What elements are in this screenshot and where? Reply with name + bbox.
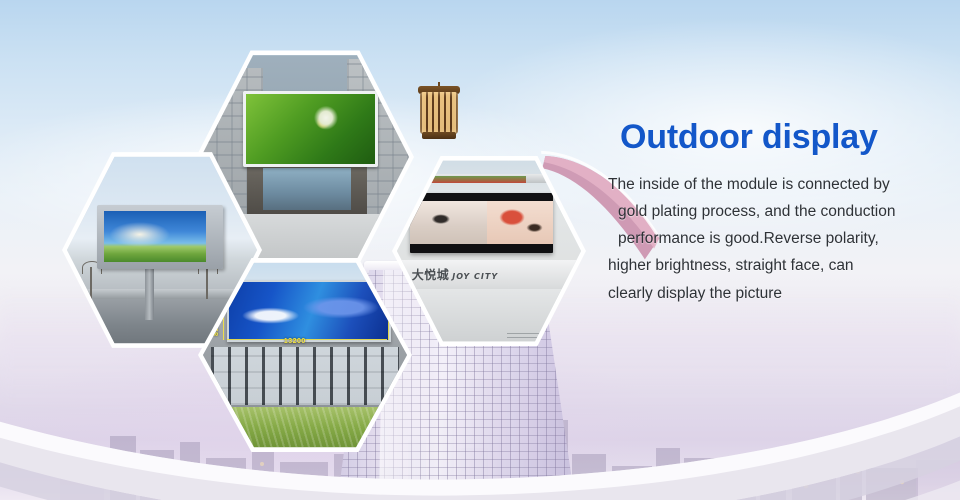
- description-line-1: The inside of the module is connected by: [608, 171, 948, 198]
- billboard-cabinet: [97, 205, 222, 269]
- banner-stage: 大悦城JOY CITY: [0, 0, 960, 500]
- ad-right-lips: [487, 201, 553, 244]
- dimension-label-height-right: 4800: [403, 309, 407, 327]
- hexagon-gallery: 大悦城JOY CITY: [0, 0, 600, 500]
- description-line-2: gold plating process, and the conduction: [608, 198, 948, 225]
- dimension-line-bottom: [227, 339, 386, 340]
- ad-left-model: [410, 201, 487, 244]
- description-line-4: higher brightness, straight face, can: [608, 252, 948, 279]
- photo-joy-city-mall: 大悦城JOY CITY: [397, 157, 581, 345]
- tree-right: [206, 267, 208, 298]
- mall-sign-english: JOY CITY: [452, 272, 498, 281]
- foreground-shrubs: [203, 407, 407, 451]
- description-line-3: performance is good.Reverse polarity,: [608, 225, 948, 252]
- mall-podium: [397, 289, 581, 345]
- led-screen-cosmetics: [410, 193, 554, 253]
- building-glass-bay: [263, 168, 350, 210]
- description-line-5: clearly display the picture: [608, 280, 948, 307]
- page-title: Outdoor display: [620, 118, 948, 157]
- led-screen-blue-water: [227, 280, 390, 342]
- mall-sign-text: 大悦城JOY CITY: [412, 266, 498, 283]
- billboard-pole: [145, 266, 155, 320]
- led-screen-leaf: [243, 91, 378, 167]
- mall-louvers: [507, 333, 570, 338]
- mall-sign-band: 大悦城JOY CITY: [397, 260, 581, 288]
- hexagon-image-frame: 大悦城JOY CITY: [397, 157, 581, 345]
- mall-sign-chinese: 大悦城: [412, 268, 450, 282]
- banner-text-panel: Outdoor display The inside of the module…: [608, 118, 948, 307]
- river-railing: [67, 289, 257, 299]
- maintenance-gondola: [423, 176, 526, 184]
- hexagon-joy-city-mall[interactable]: 大悦城JOY CITY: [392, 152, 586, 350]
- dimension-label-width-bottom: 13200: [284, 338, 306, 345]
- led-screen-sky-field: [104, 211, 207, 262]
- storefront-windows: [211, 347, 399, 405]
- dimension-line-right: [388, 280, 389, 340]
- tree-left: [90, 267, 92, 298]
- banner-description: The inside of the module is connected by…: [608, 171, 948, 307]
